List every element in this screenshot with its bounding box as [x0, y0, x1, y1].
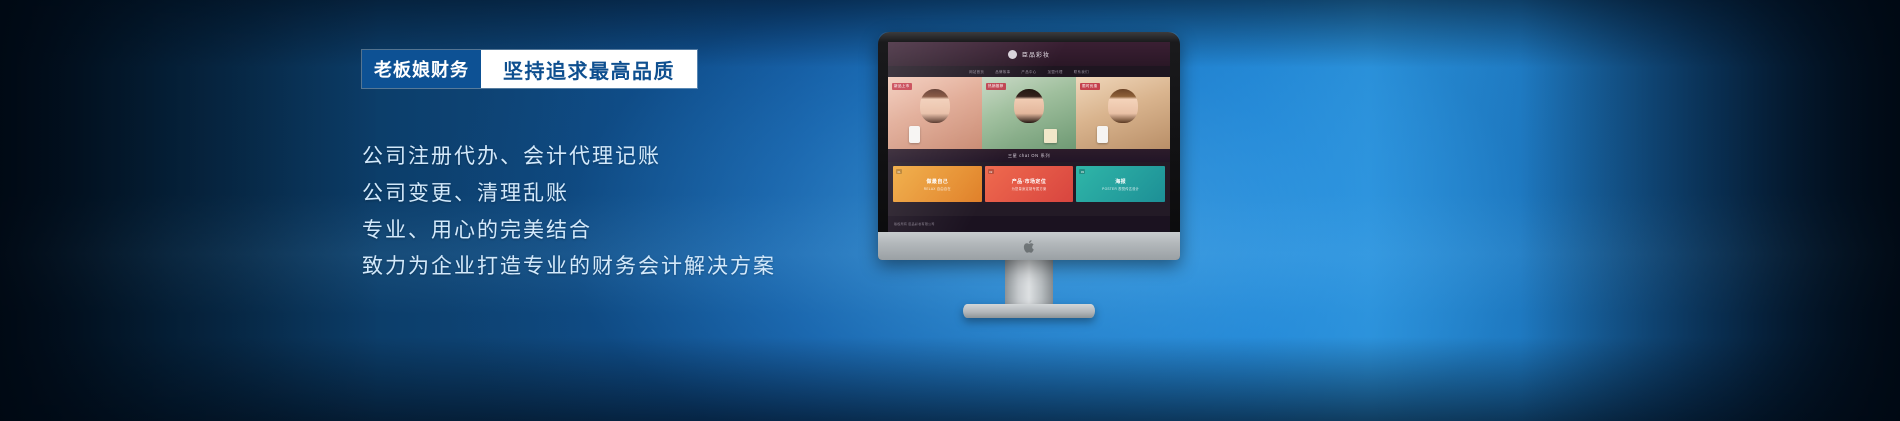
slide-tag: 热销推荐	[986, 83, 1006, 90]
description-line: 专业、用心的完美结合	[362, 216, 776, 246]
carousel-caption-text: 三星 chat ON 系列	[1008, 153, 1050, 159]
model-portrait	[920, 89, 950, 123]
site-logo-text: 臣品彩妆	[1022, 50, 1050, 59]
carousel-slide[interactable]: 新品上市	[888, 77, 982, 149]
promo-title: 做最自己	[927, 178, 949, 185]
product-prop	[1097, 126, 1108, 143]
website-footer-text: 版权所有 臣品彩妆有限公司	[894, 222, 935, 226]
slide-tag: 限时优惠	[1080, 83, 1100, 90]
slogan-box: 坚持追求最高品质	[481, 50, 697, 88]
description-line: 公司变更、清理乱账	[362, 179, 776, 209]
imac-screen: 臣品彩妆 网站首页 品牌故事 产品中心 加盟代理 联系我们 新品上市	[888, 42, 1170, 232]
promo-title: 产品·市场定位	[1012, 178, 1046, 185]
carousel-slide[interactable]: 限时优惠	[1076, 77, 1170, 149]
promo-card[interactable]: 01 做最自己 RELAX 自由自在	[893, 166, 982, 202]
carousel-slide[interactable]: 热销推荐	[982, 77, 1076, 149]
website-footer: 版权所有 臣品彩妆有限公司	[888, 216, 1170, 232]
promo-subtitle: 为您量身定制专属方案	[1012, 186, 1047, 191]
imac-body: 臣品彩妆 网站首页 品牌故事 产品中心 加盟代理 联系我们 新品上市	[878, 32, 1180, 260]
imac-mockup: 臣品彩妆 网站首页 品牌故事 产品中心 加盟代理 联系我们 新品上市	[878, 32, 1180, 318]
promo-chip: 01	[896, 169, 902, 174]
website-carousel: 新品上市 热销推荐 限时优惠	[888, 77, 1170, 149]
description-line: 公司注册代办、会计代理记账	[362, 142, 776, 172]
imac-stand	[963, 304, 1095, 318]
description-line: 致力为企业打造专业的财务会计解决方案	[362, 252, 776, 282]
promo-subtitle: POSTER 视觉传达设计	[1102, 186, 1139, 191]
website-nav: 网站首页 品牌故事 产品中心 加盟代理 联系我们	[888, 66, 1170, 77]
nav-item[interactable]: 加盟代理	[1048, 69, 1063, 74]
nav-item[interactable]: 产品中心	[1021, 69, 1036, 74]
promo-subtitle: RELAX 自由自在	[924, 186, 951, 191]
slide-tag: 新品上市	[892, 83, 912, 90]
site-logo-icon	[1008, 50, 1017, 59]
nav-item[interactable]: 网站首页	[969, 69, 984, 74]
nav-item[interactable]: 联系我们	[1074, 69, 1089, 74]
bezel-sheen	[878, 32, 1180, 42]
promo-chip: 03	[1079, 169, 1085, 174]
product-prop	[1044, 129, 1057, 143]
imac-chin	[878, 232, 1180, 260]
model-portrait	[1108, 89, 1138, 123]
nav-item[interactable]: 品牌故事	[995, 69, 1010, 74]
imac-neck	[1005, 260, 1053, 304]
promo-title: 海报	[1115, 178, 1126, 185]
product-prop	[909, 126, 920, 143]
promo-chip: 02	[988, 169, 994, 174]
apple-logo-icon	[1023, 239, 1036, 254]
promo-strip: 01 做最自己 RELAX 自由自在 02 产品·市场定位 为您量身定制专属方案…	[888, 162, 1170, 202]
model-portrait	[1014, 89, 1044, 123]
description-list: 公司注册代办、会计代理记账 公司变更、清理乱账 专业、用心的完美结合 致力为企业…	[362, 142, 776, 282]
banner-stage: 老板娘财务 坚持追求最高品质 公司注册代办、会计代理记账 公司变更、清理乱账 专…	[0, 0, 1900, 421]
brand-name-box: 老板娘财务	[362, 50, 481, 88]
headline-row: 老板娘财务 坚持追求最高品质	[362, 50, 697, 88]
website-header: 臣品彩妆	[888, 42, 1170, 66]
promo-card[interactable]: 03 海报 POSTER 视觉传达设计	[1076, 166, 1165, 202]
promo-card[interactable]: 02 产品·市场定位 为您量身定制专属方案	[985, 166, 1074, 202]
carousel-caption: 三星 chat ON 系列	[888, 149, 1170, 162]
